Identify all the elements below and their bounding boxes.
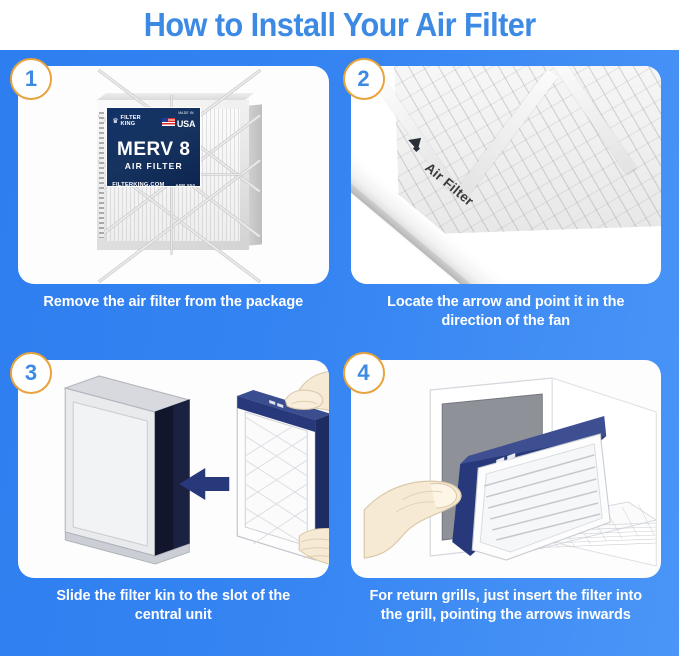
- step-3-badge: 3: [10, 352, 52, 394]
- step-4-badge: 4: [343, 352, 385, 394]
- step-3: 3: [18, 360, 329, 650]
- header-bar: How to Install Your Air Filter: [0, 0, 679, 50]
- hand-bottom: [299, 529, 328, 566]
- step-1-caption: Remove the air filter from the package: [18, 284, 329, 312]
- page-title: How to Install Your Air Filter: [144, 6, 536, 44]
- step-2-card: 2 Air Filter: [351, 66, 662, 284]
- brand-website: FILTERKING.COM: [112, 182, 164, 187]
- step-3-card: 3: [18, 360, 329, 578]
- step-3-caption: Slide the filter kin to the slot of the …: [18, 578, 329, 625]
- slide-filter-into-central-unit-illustration: [18, 360, 329, 578]
- product-type: AIR FILTER: [112, 161, 195, 171]
- step-1: 1: [18, 66, 329, 356]
- step-2-caption: Locate the arrow and point it in the dir…: [351, 284, 662, 331]
- step-2-image: Air Filter: [351, 66, 662, 284]
- step-4-image: [351, 360, 662, 578]
- usa-flag-icon: [162, 118, 175, 126]
- brand-line-2: KING: [121, 121, 136, 127]
- step-4-card: 4: [351, 360, 662, 578]
- made-in-text: MADE IN: [177, 112, 195, 115]
- insert-filter-into-return-grill-illustration: [351, 360, 662, 578]
- step-1-card: 1: [18, 66, 329, 284]
- country-text: USA: [177, 119, 195, 129]
- step-1-badge: 1: [10, 58, 52, 100]
- filter-pleat-edge: [99, 112, 104, 238]
- crown-icon: ♛: [112, 118, 118, 125]
- step-2-badge: 2: [343, 58, 385, 100]
- steps-board: 1: [0, 50, 679, 656]
- step-2: 2 Air Filter Locate the arrow and: [351, 66, 662, 356]
- step-1-image: ♛ FILTER KING MADE IN: [18, 66, 329, 284]
- central-unit-housing: [65, 376, 189, 564]
- step-4-caption: For return grills, just insert the filte…: [351, 578, 662, 625]
- merv-rating: MERV 8: [112, 140, 195, 159]
- apr-rating: APR 850: [175, 183, 195, 187]
- step-4: 4: [351, 360, 662, 650]
- step-3-image: [18, 360, 329, 578]
- product-label: ♛ FILTER KING MADE IN: [106, 107, 201, 187]
- merv-8-air-filter-product-photo: ♛ FILTER KING MADE IN: [97, 100, 249, 250]
- air-filter-corner-arrow-photo: Air Filter: [351, 66, 662, 284]
